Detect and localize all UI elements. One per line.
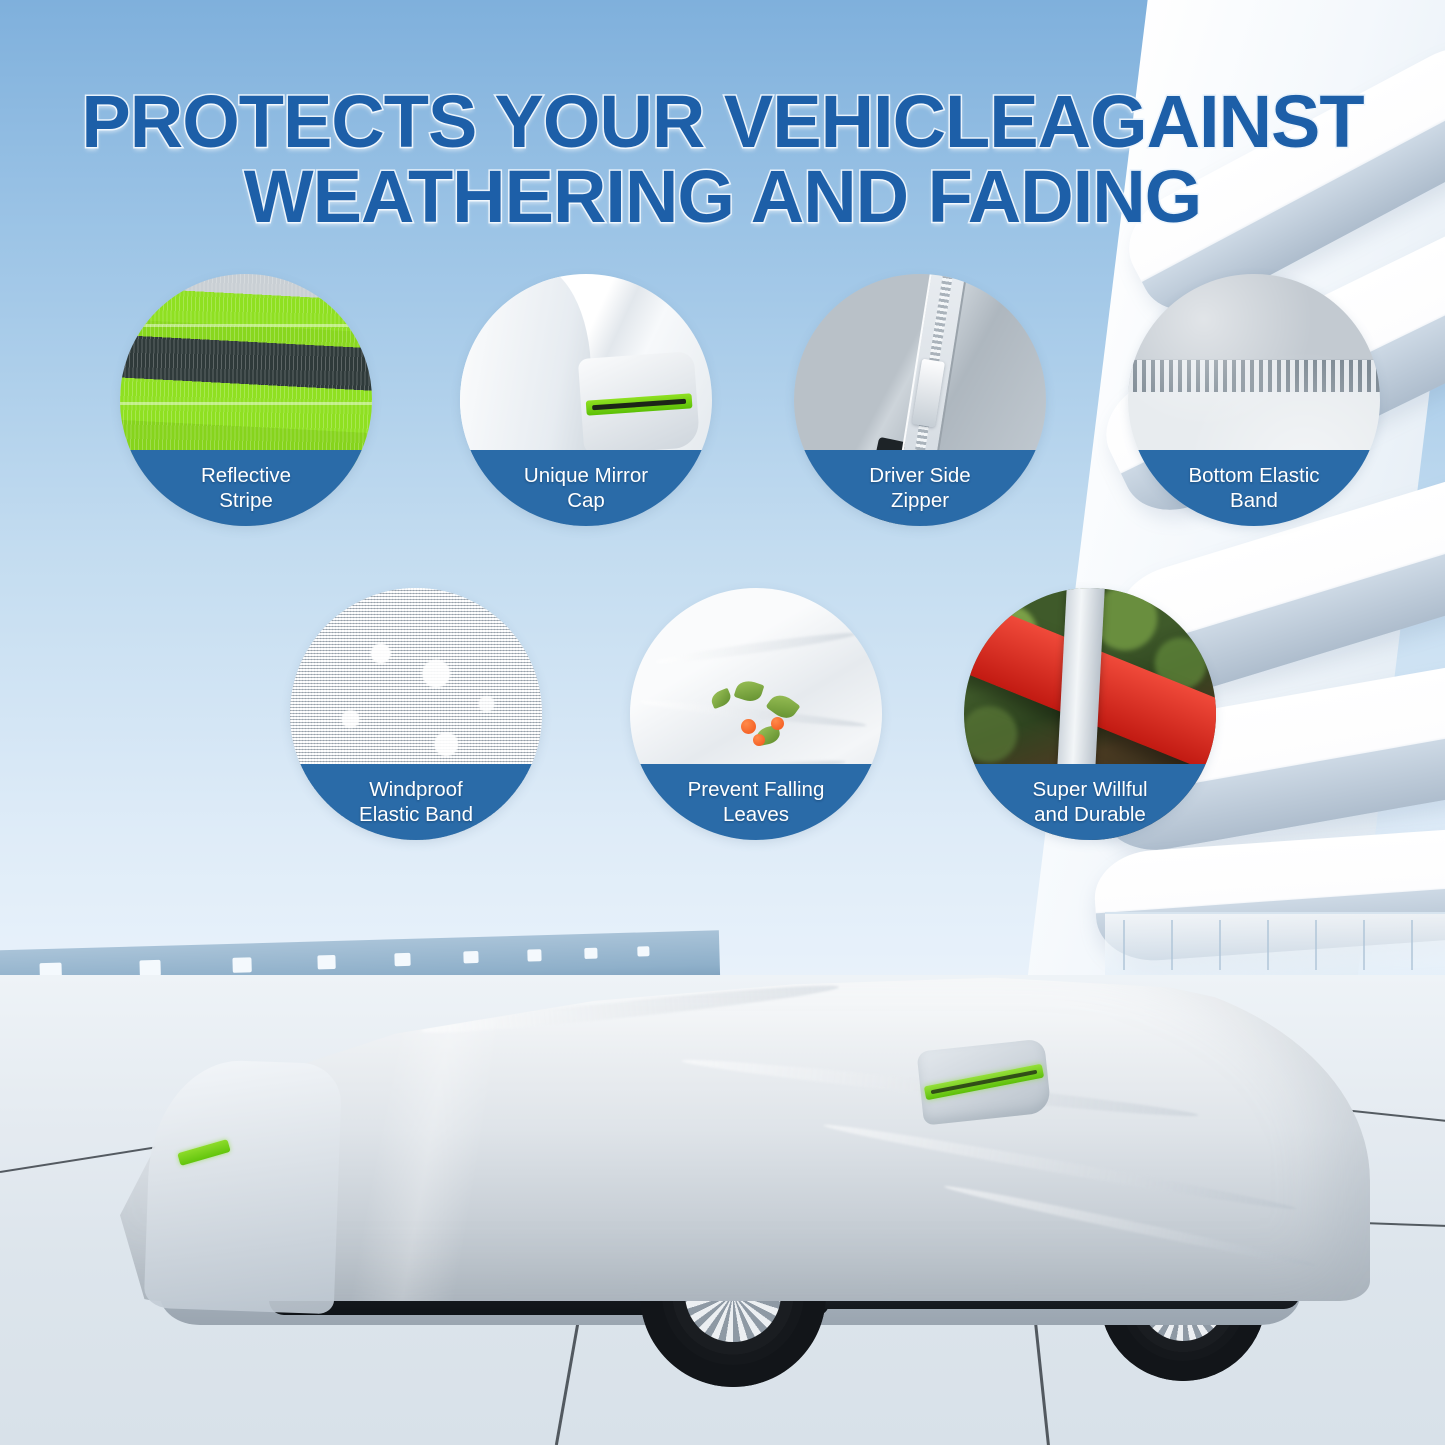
feature-label-line2: Zipper [891, 489, 949, 512]
feature-label-line1: Prevent Falling [688, 778, 825, 801]
headline-line-1: PROTECTS YOUR VEHICLEAGAINST [81, 80, 1363, 163]
feature-label-line2: Leaves [723, 803, 789, 826]
feature-label-line2: Band [1230, 489, 1278, 512]
feature-label-line2: Elastic Band [359, 803, 473, 826]
feature-label-line1: Reflective [201, 464, 291, 487]
feature-label-driver-side-zipper: Driver Side Zipper [794, 450, 1046, 526]
feature-circle-prevent-falling-leaves[interactable]: Prevent Falling Leaves [630, 588, 882, 840]
feature-circle-windproof-elastic-band[interactable]: Windproof Elastic Band [290, 588, 542, 840]
mirror-cap-detail [578, 351, 700, 455]
feature-label-line2: Stripe [219, 489, 273, 512]
feature-label-line1: Driver Side [869, 464, 970, 487]
feature-circle-bottom-elastic-band[interactable]: Bottom Elastic Band [1128, 274, 1380, 526]
feature-label-line1: Unique Mirror [524, 464, 648, 487]
feature-label-line2: Cap [567, 489, 605, 512]
feature-label-bottom-elastic-band: Bottom Elastic Band [1128, 450, 1380, 526]
feature-label-unique-mirror-cap: Unique Mirror Cap [460, 450, 712, 526]
feature-label-prevent-falling-leaves: Prevent Falling Leaves [630, 764, 882, 840]
feature-circle-driver-side-zipper[interactable]: Driver Side Zipper [794, 274, 1046, 526]
feature-circle-reflective-stripe[interactable]: Reflective Stripe [120, 274, 372, 526]
feature-label-line2: and Durable [1034, 803, 1146, 826]
feature-label-reflective-stripe: Reflective Stripe [120, 450, 372, 526]
feature-circle-unique-mirror-cap[interactable]: Unique Mirror Cap [460, 274, 712, 526]
feature-label-line1: Super Willful [1032, 778, 1147, 801]
feature-label-super-willful-and-durable: Super Willful and Durable [964, 764, 1216, 840]
page-title: PROTECTS YOUR VEHICLEAGAINST WEATHERING … [0, 84, 1445, 235]
feature-label-line1: Windproof [369, 778, 462, 801]
feature-label-line1: Bottom Elastic [1188, 464, 1319, 487]
feature-circle-super-willful-and-durable[interactable]: Super Willful and Durable [964, 588, 1216, 840]
headline-line-2: WEATHERING AND FADING [0, 159, 1445, 234]
feature-label-windproof-elastic-band: Windproof Elastic Band [290, 764, 542, 840]
